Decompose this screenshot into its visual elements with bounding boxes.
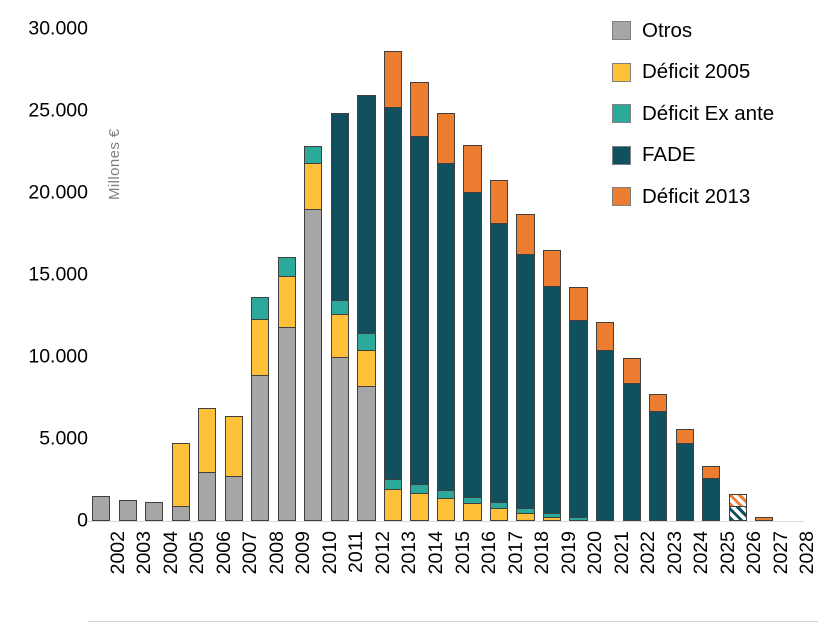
legend-swatch-icon (612, 104, 631, 123)
bar-segment (490, 508, 508, 521)
y-axis-tick-label: 25.000 (4, 101, 88, 121)
bar-segment (172, 443, 190, 508)
x-axis-tick-label: 2018 (533, 531, 553, 574)
bar-segment (490, 180, 508, 224)
bar-segment (596, 350, 614, 521)
bar-segment (357, 350, 375, 387)
bar-column[interactable] (304, 147, 322, 521)
bar-segment (516, 214, 534, 255)
bar-segment (543, 250, 561, 287)
bar-column[interactable] (623, 359, 641, 521)
x-axis-tick-label: 2015 (454, 531, 474, 574)
bar-segment (331, 357, 349, 521)
chart-legend: OtrosDéficit 2005Déficit Ex anteFADEDéfi… (612, 10, 834, 218)
bar-segment (225, 416, 243, 478)
bar-segment (278, 257, 296, 278)
bar-segment (145, 502, 163, 521)
bar-column[interactable] (119, 501, 137, 521)
bar-segment (278, 276, 296, 328)
stacked-bar-chart: 05.00010.00015.00020.00025.00030.000 Mil… (0, 0, 834, 638)
x-axis-tick-label: 2020 (586, 531, 606, 574)
bar-column[interactable] (596, 323, 614, 521)
bar-column[interactable] (198, 409, 216, 521)
bar-column[interactable] (331, 114, 349, 521)
bar-segment (516, 254, 534, 509)
bar-segment (755, 517, 773, 521)
bar-segment (172, 506, 190, 521)
x-axis-tick-label: 2016 (480, 531, 500, 574)
bar-segment (543, 286, 561, 514)
bar-segment (410, 493, 428, 521)
bar-column[interactable] (755, 518, 773, 521)
x-axis-tick-label: 2014 (427, 531, 447, 574)
bar-segment (92, 496, 110, 521)
x-axis-tick-label: 2025 (719, 531, 739, 574)
bar-segment (198, 472, 216, 521)
legend-item-label: Otros (642, 21, 692, 42)
bar-segment (702, 478, 720, 521)
y-axis-tick-label: 10.000 (4, 347, 88, 367)
bar-segment (569, 320, 587, 518)
legend-item[interactable]: Déficit 2013 (612, 176, 834, 218)
x-axis-tick-label: 2010 (321, 531, 341, 574)
bar-segment (198, 408, 216, 473)
legend-item-label: Déficit Ex ante (642, 104, 774, 125)
bar-segment (357, 333, 375, 351)
bar-column[interactable] (543, 252, 561, 521)
bar-segment (119, 500, 137, 521)
x-axis-tick-label: 2007 (241, 531, 261, 574)
axis-baseline (88, 521, 804, 522)
bar-segment (623, 358, 641, 384)
x-axis-tick-label: 2028 (798, 531, 818, 574)
legend-item[interactable]: FADE (612, 135, 834, 177)
bar-column[interactable] (92, 498, 110, 522)
bar-column[interactable] (145, 503, 163, 521)
y-axis-tick-label: 20.000 (4, 183, 88, 203)
bar-segment (225, 476, 243, 521)
bar-segment (251, 297, 269, 320)
x-axis-tick-label: 2003 (135, 531, 155, 574)
x-axis-tick-label: 2006 (215, 531, 235, 574)
legend-swatch-icon (612, 146, 631, 165)
bar-column[interactable] (463, 146, 481, 521)
bar-segment (251, 375, 269, 521)
bar-segment (437, 113, 455, 165)
y-axis-tick-label: 0 (4, 511, 88, 531)
x-axis-tick-label: 2027 (772, 531, 792, 574)
bar-segment (463, 145, 481, 193)
bar-segment (569, 287, 587, 321)
bar-segment (729, 506, 747, 521)
x-axis-tick-label: 2009 (294, 531, 314, 574)
bar-column[interactable] (384, 52, 402, 521)
bar-column[interactable] (729, 495, 747, 521)
bar-segment (623, 383, 641, 521)
bar-segment (410, 136, 428, 485)
legend-swatch-icon (612, 21, 631, 40)
bar-segment (543, 517, 561, 521)
bar-segment (304, 163, 322, 211)
x-axis-tick-label: 2012 (374, 531, 394, 574)
bar-segment (463, 503, 481, 521)
legend-swatch-icon (612, 187, 631, 206)
bar-column[interactable] (172, 444, 190, 521)
bar-segment (278, 327, 296, 521)
bar-segment (676, 429, 694, 445)
legend-item[interactable]: Otros (612, 10, 834, 52)
bar-segment (490, 223, 508, 503)
bar-column[interactable] (251, 298, 269, 521)
bar-column[interactable] (569, 288, 587, 521)
x-axis-tick-label: 2005 (188, 531, 208, 574)
bar-segment (437, 163, 455, 491)
bar-segment (463, 192, 481, 498)
bar-segment (649, 411, 667, 521)
bar-column[interactable] (225, 417, 243, 521)
y-axis-tick-label: 5.000 (4, 429, 88, 449)
bar-column[interactable] (516, 215, 534, 521)
bar-segment (304, 146, 322, 164)
bar-column[interactable] (357, 97, 375, 521)
bar-segment (410, 82, 428, 137)
bar-segment (649, 394, 667, 412)
legend-swatch-icon (612, 63, 631, 82)
bar-column[interactable] (437, 114, 455, 521)
bar-column[interactable] (410, 83, 428, 521)
y-axis-tick-label: 15.000 (4, 265, 88, 285)
bar-segment (331, 314, 349, 358)
bar-segment (569, 517, 587, 521)
x-axis-tick-label: 2023 (666, 531, 686, 574)
bar-segment (331, 300, 349, 315)
bar-column[interactable] (490, 181, 508, 521)
bar-segment (357, 386, 375, 521)
bar-segment (251, 319, 269, 376)
legend-item-label: Déficit 2005 (642, 62, 750, 83)
x-axis-tick-label: 2017 (507, 531, 527, 574)
y-axis: 05.00010.00015.00020.00025.00030.000 (0, 0, 88, 638)
legend-item-label: FADE (642, 145, 696, 166)
x-axis-tick-label: 2026 (745, 531, 765, 574)
bar-segment (516, 513, 534, 521)
bar-segment (384, 51, 402, 108)
x-axis-tick-label: 2002 (109, 531, 129, 574)
bar-segment (331, 113, 349, 302)
bar-segment (596, 322, 614, 352)
legend-item[interactable]: Déficit 2005 (612, 52, 834, 94)
bar-column[interactable] (649, 395, 667, 521)
legend-item[interactable]: Déficit Ex ante (612, 93, 834, 135)
x-axis-tick-label: 2022 (639, 531, 659, 574)
bar-segment (437, 498, 455, 521)
x-axis-tick-label: 2019 (560, 531, 580, 574)
bar-column[interactable] (278, 258, 296, 521)
footer-divider (88, 621, 818, 622)
x-axis-tick-label: 2008 (268, 531, 288, 574)
x-axis-tick-label: 2011 (347, 531, 367, 573)
legend-item-label: Déficit 2013 (642, 187, 750, 208)
x-axis-tick-label: 2021 (613, 531, 633, 574)
bar-segment (384, 489, 402, 521)
bar-segment (357, 95, 375, 334)
y-axis-tick-label: 30.000 (4, 19, 88, 39)
bar-column[interactable] (702, 467, 720, 521)
x-axis-tick-label: 2013 (400, 531, 420, 574)
x-axis-tick-label: 2004 (162, 531, 182, 574)
bar-segment (384, 107, 402, 479)
bar-column[interactable] (676, 430, 694, 521)
x-axis-tick-label: 2024 (692, 531, 712, 574)
bar-segment (676, 443, 694, 521)
bar-segment (304, 209, 322, 521)
